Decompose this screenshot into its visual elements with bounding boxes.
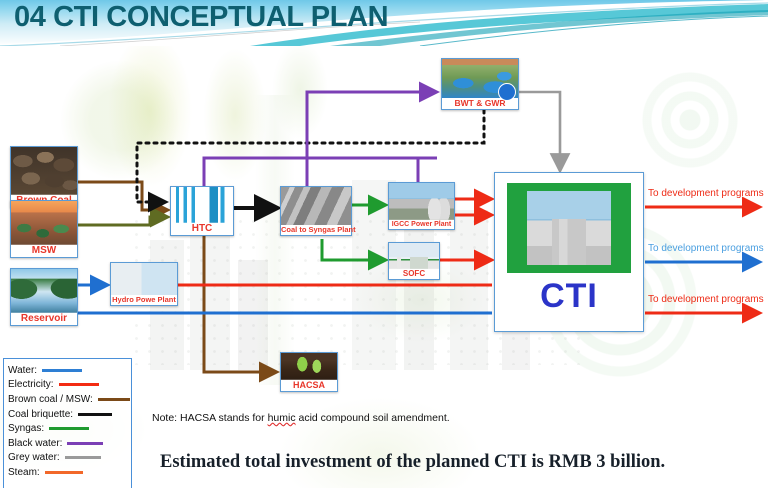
node-label: IGCC Power Plant [389, 220, 454, 229]
page-title: 04 CTI CONCEPTUAL PLAN [14, 1, 388, 34]
legend-swatch-briquette [78, 413, 112, 416]
wire-htc-to-hacsa [204, 235, 277, 372]
node-hydro-power-plant[interactable]: Hydro Powe Plant [110, 262, 178, 306]
legend-swatch-water [42, 369, 82, 372]
node-cti[interactable]: CTI [494, 172, 644, 332]
legend-swatch-syngas [49, 427, 89, 430]
reservoir-image [11, 269, 77, 313]
node-label: HACSA [281, 380, 337, 391]
node-brown-coal[interactable]: Brown Coal [10, 146, 78, 208]
output-label-3: To development programs [648, 294, 764, 305]
output-label-2: To development programs [648, 243, 764, 254]
legend-row: Steam: [8, 465, 131, 480]
htc-chart-image [171, 187, 233, 223]
legend-label: Water: [8, 365, 37, 376]
hacsa-image [281, 353, 337, 380]
wire-greywater-to-cti [519, 92, 560, 170]
legend-label: Syngas: [8, 423, 44, 434]
bwt-gwr-image [442, 59, 518, 98]
node-htc[interactable]: HTC [170, 186, 234, 236]
legend-row: Coal briquette: [8, 407, 131, 422]
legend-row: Electricity: [8, 378, 131, 393]
legend-label: Coal briquette: [8, 409, 73, 420]
wire-syngas-to-sofc [322, 239, 386, 260]
legend-label: Steam: [8, 467, 40, 478]
brown-coal-image [11, 147, 77, 195]
investment-statement: Estimated total investment of the planne… [160, 452, 665, 473]
cti-green-panel [507, 183, 631, 273]
output-label-1: To development programs [648, 188, 764, 199]
syngas-plant-image [281, 187, 351, 225]
wire-browncoal-to-htc [78, 182, 168, 210]
slide-canvas: 04 CTI CONCEPTUAL PLAN [0, 0, 768, 488]
wire-msw-to-htc [78, 217, 168, 225]
legend-swatch-browncoal [98, 398, 130, 401]
footnote-suffix: acid compound soil amendment. [296, 412, 450, 424]
legend-label: Grey water: [8, 452, 60, 463]
igcc-plant-image [389, 183, 454, 220]
node-msw[interactable]: MSW [10, 200, 78, 258]
legend-label: Brown coal / MSW: [8, 394, 93, 405]
background-road [255, 95, 295, 385]
legend-swatch-steam [45, 471, 83, 474]
recycle-icon [498, 83, 516, 101]
wire-blackwater-to-bwt [307, 92, 437, 158]
node-coal-to-syngas-plant[interactable]: Coal to Syngas Plant [280, 186, 352, 236]
legend-swatch-blackwater [67, 442, 103, 445]
hydro-plant-image [111, 263, 177, 295]
legend-row: Brown coal / MSW: [8, 392, 131, 407]
node-sofc[interactable]: SOFC [388, 242, 440, 280]
legend-row: Grey water: [8, 451, 131, 466]
legend-panel: Water: Electricity: Brown coal / MSW: Co… [3, 358, 132, 488]
node-label: HTC [171, 223, 233, 236]
footnote-prefix: Note: HACSA stands for [152, 412, 268, 424]
legend-swatch-electricity [59, 383, 99, 386]
slide-header: 04 CTI CONCEPTUAL PLAN [0, 0, 768, 46]
node-reservoir[interactable]: Reservoir [10, 268, 78, 326]
sofc-image [389, 243, 439, 269]
cti-label: CTI [540, 279, 598, 313]
node-label: SOFC [389, 269, 439, 279]
node-label: MSW [11, 245, 77, 258]
cti-plant-image [527, 191, 611, 265]
node-igcc-power-plant[interactable]: IGCC Power Plant [388, 182, 455, 230]
footnote-underlined: humic [268, 412, 296, 424]
legend-label: Electricity: [8, 379, 54, 390]
legend-label: Black water: [8, 438, 62, 449]
node-bwt-gwr[interactable]: BWT & GWR [441, 58, 519, 110]
node-hacsa[interactable]: HACSA [280, 352, 338, 392]
node-label: Hydro Powe Plant [111, 295, 177, 305]
legend-row: Black water: [8, 436, 131, 451]
legend-swatch-greywater [65, 456, 101, 459]
footnote: Note: HACSA stands for humic acid compou… [152, 412, 450, 424]
msw-image [11, 201, 77, 245]
legend-row: Water: [8, 363, 131, 378]
legend-row: Syngas: [8, 421, 131, 436]
node-label: Coal to Syngas Plant [281, 225, 351, 235]
node-label: Reservoir [11, 313, 77, 326]
